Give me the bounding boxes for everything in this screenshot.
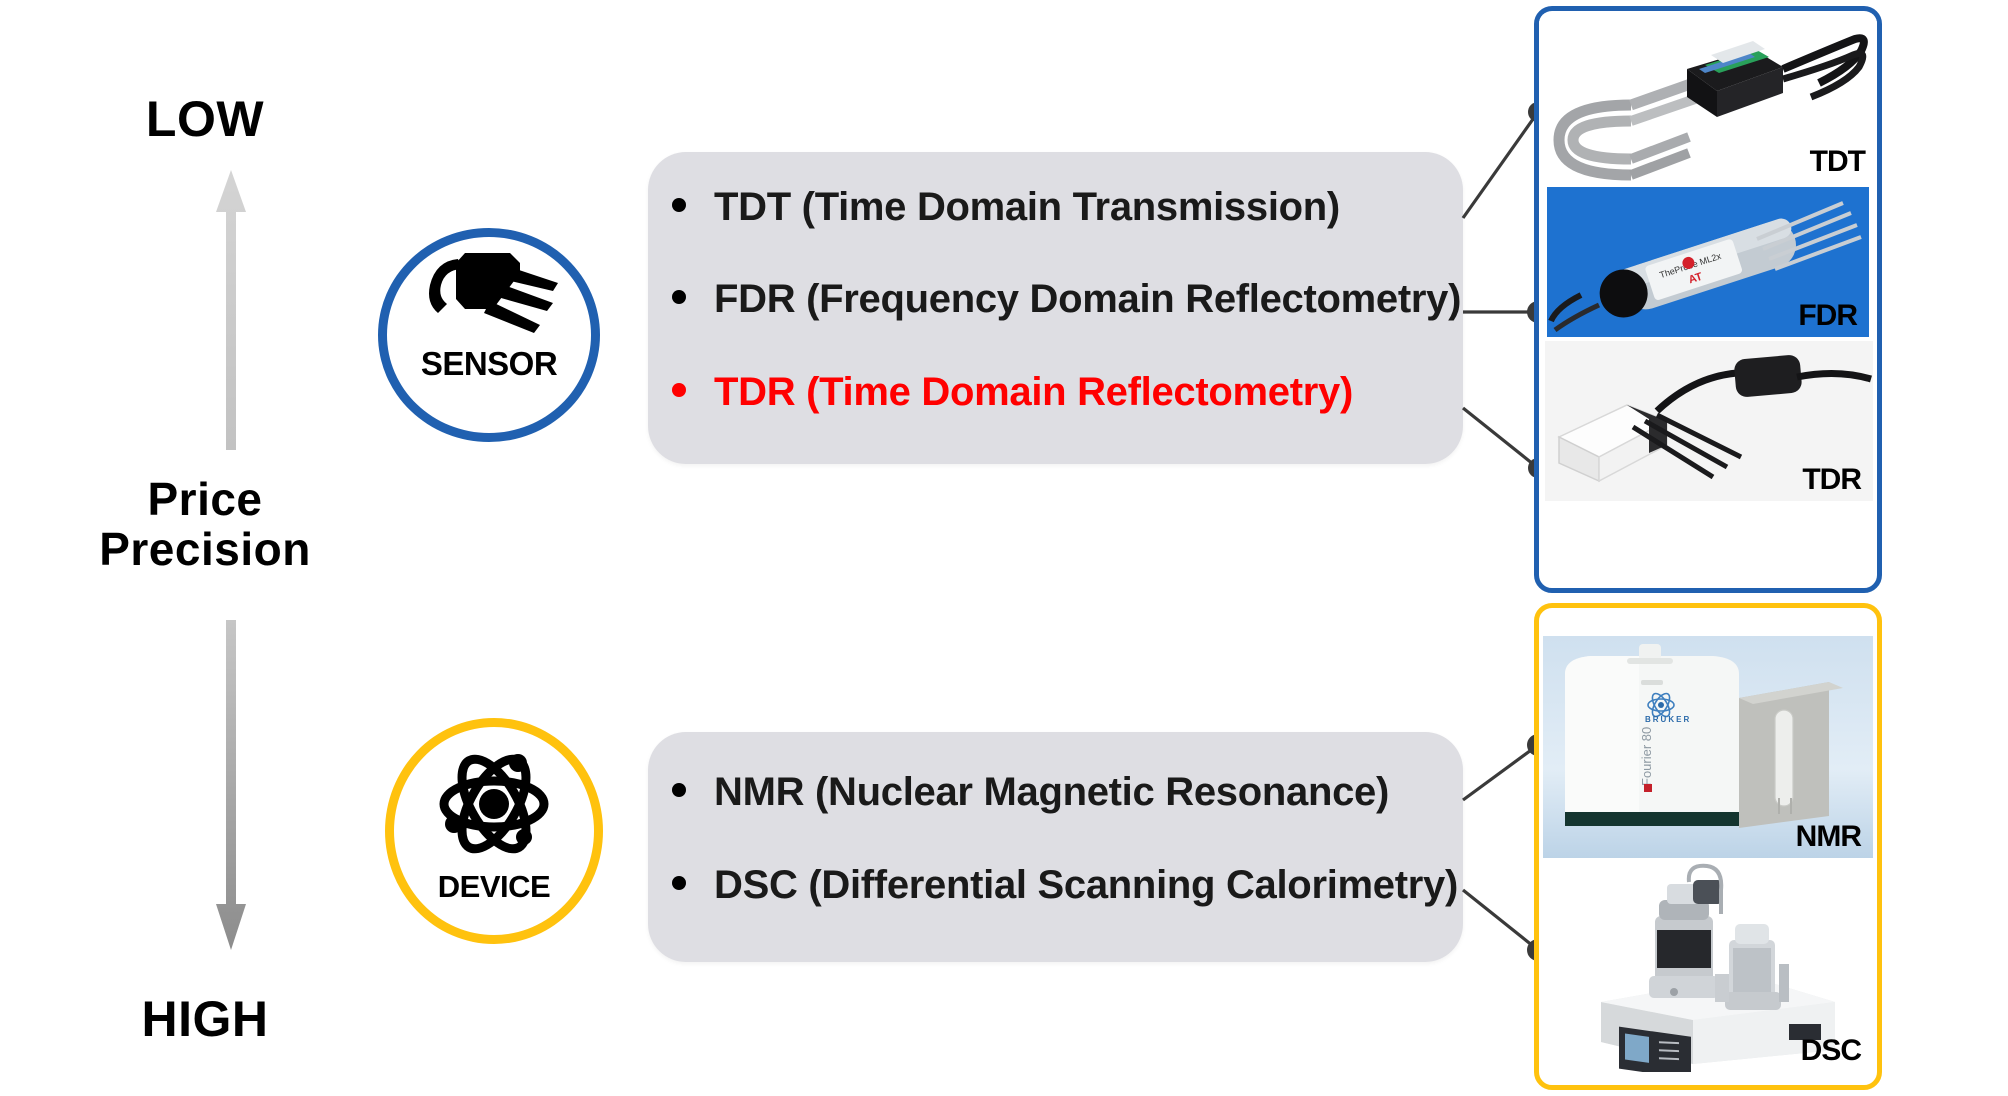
atom-icon: [432, 745, 556, 863]
axis-label-low: LOW: [85, 90, 325, 148]
list-item-nmr[interactable]: NMR (Nuclear Magnetic Resonance): [672, 770, 1389, 815]
bullet-dot-icon: [672, 383, 686, 397]
device-methods-bubble: [648, 732, 1463, 962]
device-photo-panel: BRUKER Fourier 80 NMR: [1534, 603, 1882, 1090]
category-circle-sensor[interactable]: SENSOR: [378, 228, 600, 442]
connector-nmr: [1463, 745, 1538, 800]
list-item-fdr[interactable]: FDR (Frequency Domain Reflectometry): [672, 277, 1461, 322]
list-item-tdt[interactable]: TDT (Time Domain Transmission): [672, 185, 1340, 230]
list-item-dsc[interactable]: DSC (Differential Scanning Calorimetry): [672, 863, 1458, 908]
category-label-sensor: SENSOR: [421, 345, 557, 383]
tdt-probe-photo: TDT: [1539, 13, 1877, 183]
tdr-probe-photo: TDR: [1545, 341, 1873, 501]
axis-label-middle: Price Precision: [75, 475, 335, 574]
soil-probe-sensor-icon: [418, 251, 560, 343]
svg-text:Fourier 80: Fourier 80: [1639, 727, 1654, 786]
axis-label-price: Price: [75, 475, 335, 525]
bullet-dot-icon: [672, 198, 686, 212]
sensor-photo-panel: TDT TheProbe ML2x AT: [1534, 6, 1882, 593]
bullet-dot-icon: [672, 783, 686, 797]
photo-caption-dsc: DSC: [1801, 1034, 1861, 1068]
photo-caption-nmr: NMR: [1796, 820, 1861, 854]
svg-text:BRUKER: BRUKER: [1645, 715, 1691, 724]
fdr-probe-photo: TheProbe ML2x AT FDR: [1547, 187, 1869, 337]
list-item-label-dsc: DSC (Differential Scanning Calorimetry): [714, 863, 1458, 908]
list-item-label-tdt: TDT (Time Domain Transmission): [714, 185, 1340, 230]
list-item-tdr[interactable]: TDR (Time Domain Reflectometry): [672, 370, 1353, 415]
photo-caption-tdt: TDT: [1810, 145, 1865, 179]
category-circle-device[interactable]: DEVICE: [385, 718, 603, 944]
nmr-spectrometer-photo: BRUKER Fourier 80 NMR: [1543, 636, 1873, 858]
diagram-canvas: LOW Price Precision HIGH: [0, 0, 2008, 1096]
photo-caption-tdr: TDR: [1802, 463, 1861, 497]
category-label-device: DEVICE: [438, 869, 550, 905]
list-item-label-tdr: TDR (Time Domain Reflectometry): [714, 370, 1353, 415]
list-item-label-fdr: FDR (Frequency Domain Reflectometry): [714, 277, 1461, 322]
axis-label-precision: Precision: [75, 525, 335, 575]
arrow-up-icon: [215, 170, 247, 450]
dsc-instrument-photo: DSC: [1543, 860, 1873, 1072]
bullet-dot-icon: [672, 876, 686, 890]
bullet-dot-icon: [672, 290, 686, 304]
list-item-label-nmr: NMR (Nuclear Magnetic Resonance): [714, 770, 1389, 815]
connector-tdr: [1463, 408, 1538, 468]
connector-tdt: [1463, 112, 1538, 218]
axis-label-high: HIGH: [85, 990, 325, 1048]
arrow-down-icon: [215, 620, 247, 950]
connector-dsc: [1463, 890, 1538, 950]
photo-caption-fdr: FDR: [1798, 299, 1857, 333]
